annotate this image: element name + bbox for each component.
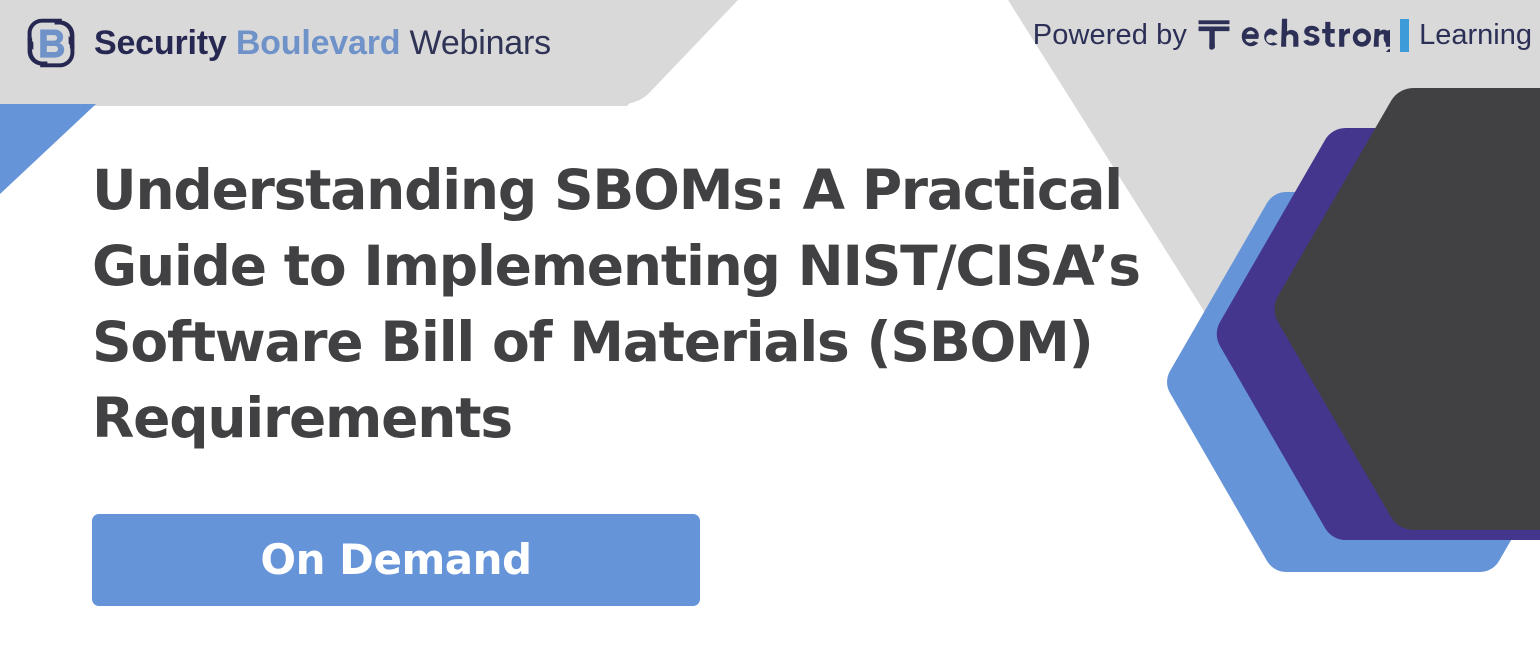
webinar-title: Understanding SBOMs: A Practical Guide t… (92, 152, 1192, 456)
on-demand-button[interactable]: On Demand (92, 514, 700, 606)
banner-content: Understanding SBOMs: A Practical Guide t… (92, 152, 1202, 606)
techstrong-wordmark-icon (1197, 18, 1390, 52)
powered-by-label: Powered by (1033, 19, 1187, 52)
brand-lockup[interactable]: Security Boulevard Webinars (24, 16, 551, 70)
on-demand-button-label: On Demand (260, 539, 531, 581)
blue-pipe-divider-icon (1400, 19, 1409, 52)
security-boulevard-logo-icon (24, 16, 78, 70)
powered-by-lockup[interactable]: Powered by (1033, 18, 1532, 52)
blue-corner-triangle (0, 104, 96, 194)
brand-title: Security Boulevard Webinars (94, 26, 551, 60)
brand-word-security: Security (94, 24, 227, 62)
learning-label: Learning (1419, 19, 1532, 52)
webinar-banner: Security Boulevard Webinars Powered by (0, 0, 1540, 660)
brand-word-webinars: Webinars (410, 24, 551, 62)
brand-word-boulevard: Boulevard (236, 24, 400, 62)
